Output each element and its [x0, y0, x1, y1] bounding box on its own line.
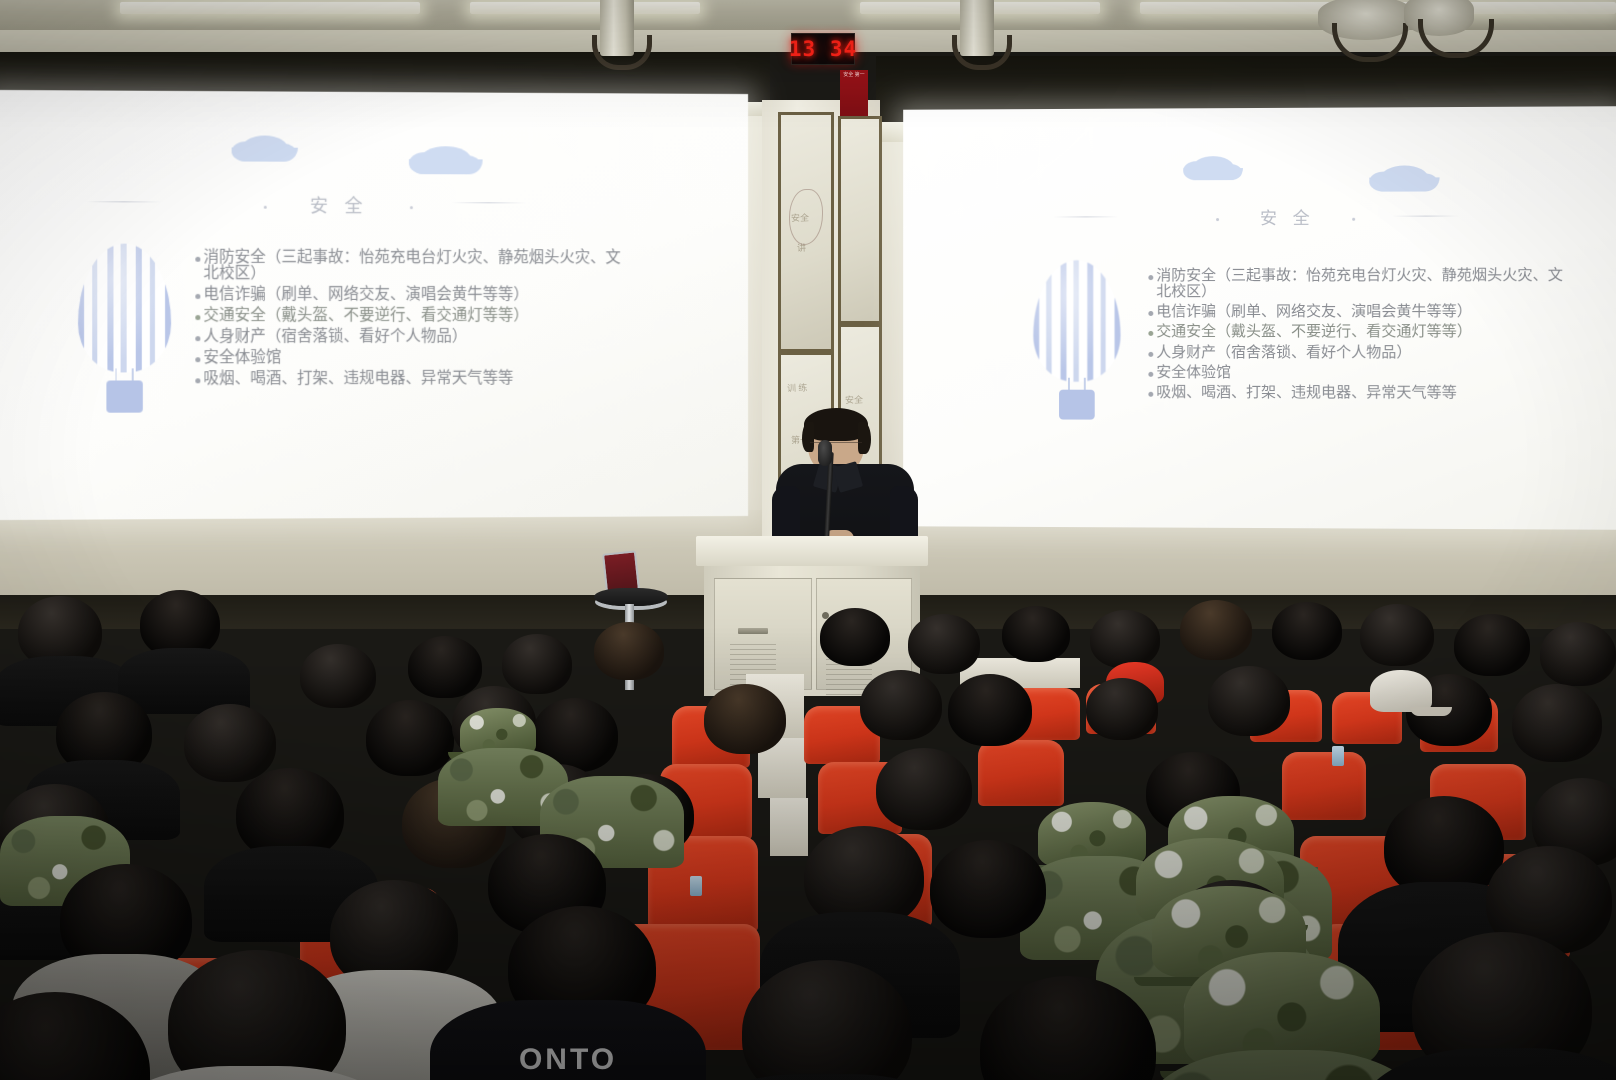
slide-bullet: 电信诈骗（刷单、网络交友、演唱会黄牛等等） [1148, 304, 1570, 320]
slide-bullet: 吸烟、喝酒、打架、违规电器、异常天气等等 [1148, 385, 1570, 402]
audience-head [1086, 678, 1158, 740]
title-rule-right [1392, 216, 1458, 217]
hot-air-balloon-icon [78, 244, 171, 413]
audience-head [704, 684, 786, 754]
cloud-icon [242, 135, 288, 161]
bullet-dot-icon [195, 336, 200, 341]
slide-bullet-list-left: 消防安全（三起事故：怡苑充电台灯火灾、静苑烟头火灾、文北校区） 电信诈骗（刷单、… [195, 250, 624, 392]
audience-head [930, 840, 1046, 938]
hanging-light-disc [1318, 0, 1414, 40]
slide-bullet: 交通安全（戴头盔、不要逆行、看交通灯等等） [1148, 324, 1570, 340]
audience-head [366, 700, 454, 776]
audience-head [502, 634, 572, 694]
digital-wall-clock: 13 34 [791, 33, 855, 65]
title-rule-left [86, 201, 161, 202]
slide-bullet-text: 人身财产（宿舍落锁、看好个人物品） [1156, 344, 1570, 360]
audience-head [1512, 684, 1602, 762]
audience-head [1002, 606, 1070, 662]
hanging-light-disc [1404, 0, 1474, 36]
ceiling-strip-light [470, 2, 700, 14]
slide-bullet-text: 交通安全（戴头盔、不要逆行、看交通灯等等） [203, 308, 624, 324]
white-cap [1370, 670, 1432, 712]
clock-time-display: 13 34 [789, 37, 857, 61]
slide-bullet: 人身财产（宿舍落锁、看好个人物品） [195, 329, 624, 346]
slide-bullet-text: 吸烟、喝酒、打架、违规电器、异常天气等等 [1156, 385, 1570, 402]
audience-head [820, 608, 890, 666]
slide-bullet-text: 安全体验馆 [203, 350, 624, 367]
audience-head [876, 748, 972, 830]
slide-title: 安 全 [310, 192, 368, 218]
audience-head [1272, 602, 1342, 660]
slide-bullet-text: 电信诈骗（刷单、网络交友、演唱会黄牛等等） [203, 287, 624, 303]
red-wall-banner: 安全 第一 [840, 70, 868, 116]
slide-bullet: 消防安全（三起事故：怡苑充电台灯火灾、静苑烟头火灾、文北校区） [195, 250, 624, 283]
whiteboard-note: 安全 [845, 393, 863, 407]
audience-head [1180, 600, 1252, 660]
slide-bullet: 消防安全（三起事故：怡苑充电台灯火灾、静苑烟头火灾、文北校区） [1148, 268, 1570, 300]
bullet-dot-icon [1148, 275, 1153, 280]
auditorium-seat [1282, 752, 1366, 820]
whiteboard-note: 训 练 [787, 381, 808, 395]
whiteboard-panel [838, 116, 882, 324]
raptors-jersey: ONTO RAPTORS [430, 1000, 706, 1080]
aisle-step [770, 798, 808, 856]
audience-head [408, 636, 482, 698]
bullet-dot-icon [1148, 311, 1153, 316]
cloud-icon [420, 146, 472, 174]
bullet-dot-icon [195, 257, 200, 262]
bullet-dot-icon [195, 315, 200, 320]
title-rule-right [452, 202, 526, 203]
audience-head [1540, 622, 1616, 686]
title-dot [410, 206, 413, 209]
slide-bullet-text: 电信诈骗（刷单、网络交友、演唱会黄牛等等） [1156, 304, 1570, 320]
slide-bullet-text: 安全体验馆 [1156, 365, 1570, 381]
audience-seating: ONTO RAPTORS [0, 588, 1616, 1080]
audience-head [948, 674, 1032, 746]
slide-title: 安 全 [1260, 204, 1315, 229]
auditorium-photo: 安全 讲 训 练 第一 注意 安全 13 34 安全 第一 [0, 0, 1616, 1080]
bullet-dot-icon [1148, 331, 1153, 336]
projection-screen-right: 安 全 消防安全（三起事故：怡苑充电台灯火灾、静苑烟头火灾、文北校区） 电信诈骗… [903, 106, 1616, 530]
title-dot [1352, 218, 1355, 221]
bullet-dot-icon [1148, 351, 1153, 356]
hanging-speaker [600, 0, 634, 56]
slide-bullet: 交通安全（戴头盔、不要逆行、看交通灯等等） [195, 308, 624, 324]
cloud-icon [1380, 165, 1428, 191]
slide-bullet: 电信诈骗（刷单、网络交友、演唱会黄牛等等） [195, 287, 624, 303]
audience-head [1090, 610, 1160, 668]
slide-bullet: 安全体验馆 [1148, 365, 1570, 381]
bullet-dot-icon [195, 378, 200, 383]
smartphone-screen [1332, 746, 1344, 766]
cloud-icon [1192, 156, 1234, 180]
audience-head [184, 704, 276, 782]
whiteboard-panel: 安全 讲 [778, 112, 834, 352]
audience-head [300, 644, 376, 708]
bullet-dot-icon [195, 357, 200, 362]
slide-bullet: 人身财产（宿舍落锁、看好个人物品） [1148, 344, 1570, 360]
bullet-dot-icon [1148, 372, 1153, 377]
slide-bullet: 吸烟、喝酒、打架、违规电器、异常天气等等 [195, 370, 624, 387]
projection-screen-left: 安 全 消防安全（三起事故：怡苑充电台灯火灾、静苑烟头火灾、文北校区） 电信诈骗… [0, 90, 748, 520]
title-dot [264, 206, 267, 209]
audience-head [1360, 604, 1434, 666]
lectern-top [696, 536, 928, 566]
audience-head [1454, 614, 1530, 676]
auditorium-seat [978, 740, 1064, 806]
audience-shoulders [1356, 1048, 1616, 1080]
audience-head [860, 670, 942, 740]
whiteboard-note: 安全 [791, 211, 809, 225]
slide-bullet: 安全体验馆 [195, 350, 624, 367]
jersey-team-text: ONTO [430, 1045, 706, 1075]
bullet-dot-icon [1148, 392, 1153, 397]
hanging-speaker [960, 0, 994, 56]
audience-head [1208, 666, 1290, 736]
audience-head [594, 622, 664, 680]
slide-bullet-list-right: 消防安全（三起事故：怡苑充电台灯火灾、静苑烟头火灾、文北校区） 电信诈骗（刷单、… [1148, 268, 1570, 406]
hot-air-balloon-icon [1033, 260, 1120, 419]
slide-bullet-text: 消防安全（三起事故：怡苑充电台灯火灾、静苑烟头火灾、文北校区） [203, 250, 624, 283]
slide-bullet-text: 人身财产（宿舍落锁、看好个人物品） [203, 329, 624, 346]
slide-bullet-text: 消防安全（三起事故：怡苑充电台灯火灾、静苑烟头火灾、文北校区） [1156, 268, 1570, 300]
bullet-dot-icon [195, 294, 200, 299]
ceiling-strip-light [120, 2, 420, 14]
slide-bullet-text: 交通安全（戴头盔、不要逆行、看交通灯等等） [1156, 324, 1570, 340]
smartphone-screen [690, 876, 702, 896]
whiteboard-note: 讲 [797, 241, 806, 254]
slide-bullet-text: 吸烟、喝酒、打架、违规电器、异常天气等等 [203, 370, 624, 387]
audience-shoulders [676, 1074, 976, 1080]
title-dot [1216, 218, 1219, 221]
audience-head [908, 614, 980, 674]
microphone-icon [818, 440, 832, 466]
title-rule-left [1053, 216, 1118, 217]
